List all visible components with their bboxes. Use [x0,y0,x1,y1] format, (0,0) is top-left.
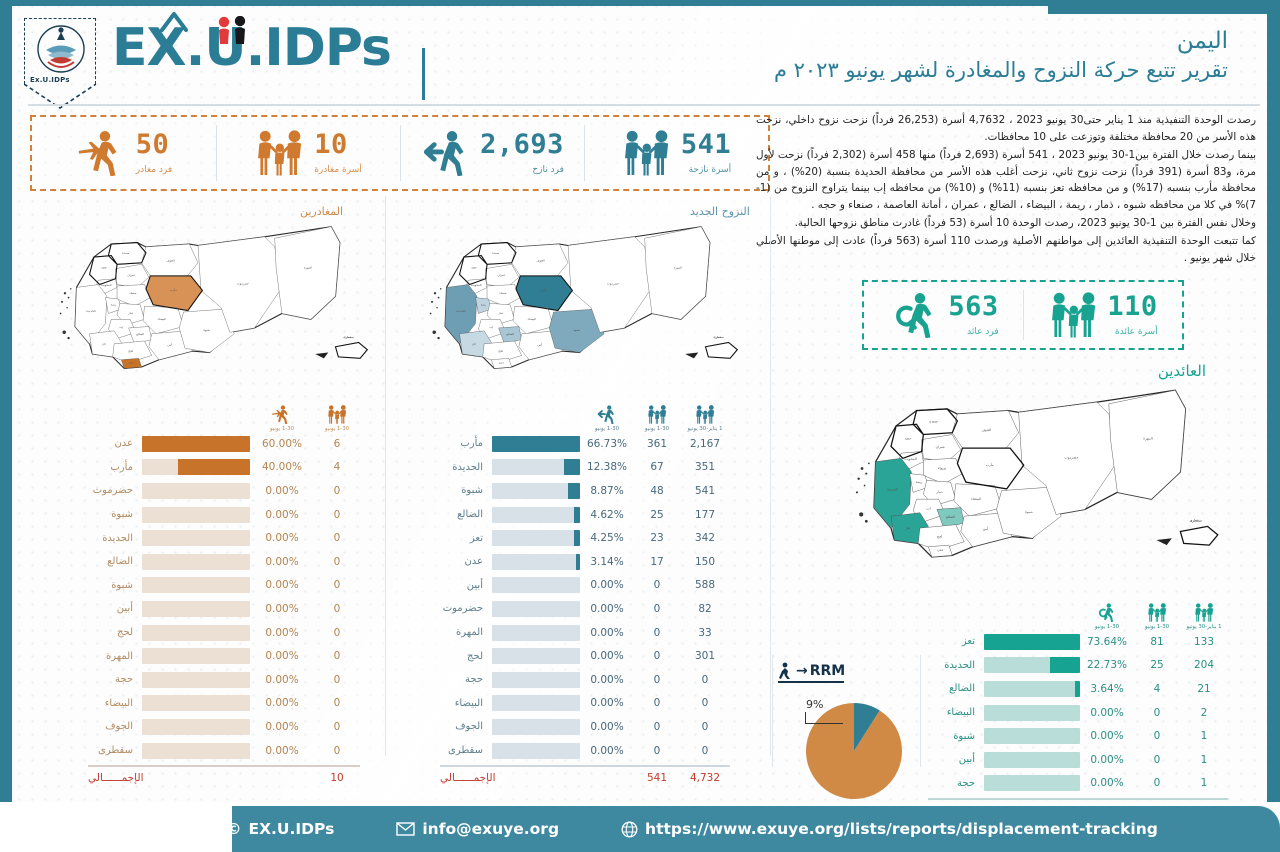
family-icon [622,130,672,176]
cell-governorate: الجوف [88,721,142,732]
yemen-map-svg: صعدةحجةالجوفعمرانالمحويتصنعاءمأربالحديدة… [828,380,1228,559]
logo-dashed-tail [24,84,96,110]
cell-bar [492,695,580,711]
cell-bar [984,657,1080,673]
cell-bar [142,719,250,735]
cell-bar [142,648,250,664]
header-icon-family-icon [695,405,716,424]
map-label-عمران: عمران [936,445,946,449]
family-icon [647,405,668,424]
cell-families: 0 [314,579,360,591]
narrative-text: رصدت الوحدة التنفيذية منذ 1 يناير حتى30 … [756,112,1256,268]
cell-jan-jun: 1 [1180,754,1228,766]
rrm-leader-line [805,712,843,724]
home-caret-icon [160,8,188,36]
rrm-annotation: 9% [806,698,823,711]
cell-families: 0 [314,721,360,733]
family-icon [695,405,716,424]
kpi-label: فرد مغادر [136,165,172,175]
map-label-شبوة: شبوة [573,328,580,332]
person-walking-arrow-icon [420,130,472,176]
cell-governorate: حجة [928,778,984,789]
table-header-row: 1 يناير-30 يونيو 1-30 يونيو 1-30 يونيو [928,596,1228,630]
table-row: 440.00% مأرب [88,456,360,480]
cell-bar [492,507,580,523]
map-label-مأرب: مأرب [170,288,177,292]
cell-percent: 0.00% [580,650,634,662]
map-label-الضالع: الضالع [946,515,955,519]
family-icon [1194,603,1215,622]
table-row: 000.00% سقطرى [440,739,730,763]
map-returnees: صعدةحجةالجوفعمرانالمحويتصنعاءمأربالحديدة… [828,380,1228,559]
right-rail-upper [1267,14,1280,276]
cell-percent: 0.00% [250,674,314,686]
narrative-paragraph-3: كما تتبعت الوحدة التنفيذية العائدين إلى … [756,233,1256,267]
cell-percent: 0.00% [580,721,634,733]
left-rail [0,6,12,806]
map-label-شبوة: شبوة [203,328,210,332]
table-row: 00.00% الضالع [88,550,360,574]
kpi-value: 563 [948,293,998,320]
map-label-عمران: عمران [127,273,135,277]
map-label-صعدة: صعدة [122,251,130,255]
brand-divider [422,48,425,100]
cell-families: 4 [314,461,360,473]
cell-june: 0 [1134,730,1180,742]
cell-percent: 0.00% [250,556,314,568]
cell-governorate: البيضاء [88,698,142,709]
cell-governorate: حضرموت [440,603,492,614]
section-caption-returnees: العائدين [1158,362,1206,380]
kpi-label: أسرة نازحة [681,165,731,175]
map-label-الجوف: الجوف [536,258,544,262]
header-icon-person-walking-arrow-icon [596,405,617,424]
cell-governorate: عدن [88,438,142,449]
cell-governorate: مأرب [440,438,492,449]
brand-lockup: EX.U.IDPs [112,22,391,74]
map-label-الحديدة: الحديدة [456,309,465,313]
cell-governorate: الضالع [928,683,984,694]
map-label-صنعاء: صنعاء [499,291,507,295]
table-row: 1338173.64% تعز [928,630,1228,654]
kpi-icon-person-leaving-plane-icon [76,126,128,180]
map-label-صنعاء: صنعاء [938,466,946,470]
cell-bar [492,648,580,664]
cell-june: 81 [1134,636,1180,648]
cell-june: 48 [634,485,680,497]
logo-caption: Ex.U.IDPs [30,76,70,84]
cell-bar [142,672,250,688]
footer-website[interactable]: https://www.exuye.org/lists/reports/disp… [621,820,1158,838]
narrative-paragraph-0: رصدت الوحدة التنفيذية منذ 1 يناير حتى30 … [756,112,1256,146]
returnee-kpi-strip: 563 فرد عائد 110 أسرة عائدة [862,280,1184,350]
section-caption-departures: المغادرين [300,205,343,218]
cell-percent: 40.00% [250,461,314,473]
cell-governorate: البيضاء [440,698,492,709]
map-label-البيضاء: البيضاء [158,317,167,321]
cell-jan-jun: 0 [680,745,730,757]
cell-percent: 0.00% [250,579,314,591]
top-bar-right [1048,0,1280,14]
map-label-الضالع: الضالع [506,332,514,336]
cell-governorate: الضالع [88,556,142,567]
person-returning-icon [1096,603,1117,622]
map-label-حضرموت: حضرموت [1064,455,1078,459]
map-label-أبين: أبين [537,342,542,346]
map-label-عدن: عدن [937,548,943,552]
table-row: 00.00% لحج [88,621,360,645]
cell-percent: 0.00% [250,745,314,757]
header-label: 1-30 يونيو [325,426,349,432]
departures-table: 1-30 يونيو 1-30 يونيو 660.00% عدن440.00%… [88,398,360,789]
header-label: 1-30 يونيو [595,426,619,432]
kpi-label: فرد عائد [948,327,998,337]
table-row: 2143.64% الضالع [928,677,1228,701]
table-row: 100.00% حجة [928,772,1228,796]
cell-jan-jun: 177 [680,509,730,521]
header-icon-family-icon [647,405,668,424]
cell-governorate: عدن [440,556,492,567]
cell-percent: 4.25% [580,532,634,544]
kpi-card-3: 541 أسرة نازحة [584,117,768,189]
cell-bar [142,459,250,475]
cell-percent: 0.00% [580,627,634,639]
cell-bar [492,554,580,570]
cell-june: 25 [1134,659,1180,671]
logo: Ex.U.IDPs [18,14,110,100]
map-label-أبين: أبين [983,526,989,531]
cell-bar [492,672,580,688]
map-region-المهرة [275,227,340,320]
cell-bar [142,530,250,546]
table-row: 00.00% شبوة [88,503,360,527]
kpi-icon-family-icon [254,126,306,180]
table-row: 00.00% المهرة [88,644,360,668]
kpi-card-0: 50 فرد مغادر [32,117,216,189]
cell-governorate: الضالع [440,509,492,520]
header-label: 1-30 يونيو [270,426,294,432]
cell-percent: 8.87% [580,485,634,497]
cell-june: 0 [634,603,680,615]
cell-percent: 0.00% [580,603,634,615]
map-label-لحج: لحج [498,349,503,353]
map-label-حجة: حجة [471,266,476,270]
rrm-label: RRM [810,663,846,679]
table-header-col-0: 1 يناير-30 يونيو [1180,603,1228,630]
cell-bar [142,743,250,759]
header-icon-family-icon [1147,603,1168,622]
kpi-label: فرد نازح [480,165,564,175]
table-row: 541488.87% شبوة [440,479,730,503]
table-row: 00.00% حجة [88,668,360,692]
cell-jan-jun: 541 [680,485,730,497]
table-row: 342234.25% تعز [440,526,730,550]
cell-governorate: المهرة [440,627,492,638]
yemen-map-svg: صعدةحجةالجوفعمرانالمحويتصنعاءمأربالحديدة… [406,218,746,370]
cell-june: 17 [634,556,680,568]
cell-families: 0 [314,603,360,615]
map-label-الجوف: الجوف [981,428,991,432]
map-label-ريمة: ريمة [481,303,487,307]
family-icon [1049,292,1099,338]
cell-jan-jun: 1 [1180,777,1228,789]
two-people-icon [216,16,250,46]
kpi-icon-family-icon [1047,288,1099,342]
total-value-1: 541 [634,772,680,784]
panel-divider-3 [920,655,921,767]
cell-governorate: حضرموت [88,485,142,496]
cell-june: 0 [1134,754,1180,766]
cell-june: 0 [634,579,680,591]
map-label-socotra: سقطرى [1190,518,1202,522]
cell-families: 0 [314,697,360,709]
map-label-ذمار: ذمار [497,311,504,315]
cell-governorate: حجة [440,674,492,685]
table-row: 660.00% عدن [88,432,360,456]
cell-jan-jun: 150 [680,556,730,568]
map-departures: صعدةحجةالجوفعمرانالمحويتصنعاءمأربالحديدة… [36,218,376,370]
table-header-col-0: 1 يناير-30 يونيو [680,405,730,432]
table-header-row: 1-30 يونيو 1-30 يونيو [88,398,360,432]
cell-governorate: حجة [88,674,142,685]
map-label-ريمة: ريمة [916,480,923,484]
map-new-displacement: صعدةحجةالجوفعمرانالمحويتصنعاءمأربالحديدة… [406,218,746,370]
cell-governorate: شبوة [88,580,142,591]
map-islands [60,288,72,339]
cell-jan-jun: 2,167 [680,438,730,450]
table-row: 00.00% شبوة [88,574,360,598]
table-row: 150173.14% عدن [440,550,730,574]
map-label-socotra: سقطرى [343,335,354,339]
person-walking-arrow-icon [596,405,617,424]
map-label-عدن: عدن [129,360,135,364]
header-label: 1-30 يونيو [1145,624,1169,630]
header-icon-family-icon [327,405,348,424]
cell-governorate: أبين [440,580,492,591]
cell-governorate: البيضاء [928,707,984,718]
family-icon [327,405,348,424]
kpi-label: أسرة مغادرة [314,165,362,175]
map-label-المحويت: المحويت [101,283,112,287]
footer-copyright: © EX.U.IDPs [226,820,334,838]
cell-jan-jun: 1 [1180,730,1228,742]
cell-families: 0 [314,532,360,544]
cell-june: 0 [634,745,680,757]
panel-divider-4 [772,655,773,767]
footer-website-label: https://www.exuye.org/lists/reports/disp… [645,820,1158,838]
cell-governorate: شبوة [440,485,492,496]
table-row: 58800.00% أبين [440,574,730,598]
top-bar-left [0,0,1048,6]
footer-email-label: info@exuye.org [422,820,559,838]
header-label: 1-30 يونيو [1095,624,1119,630]
cell-governorate: الحديدة [928,660,984,671]
rrm-header: → RRM [778,662,908,679]
section-caption-new-displacement: النزوح الجديد [690,205,750,218]
map-region-socotra [1180,526,1217,545]
table-header-col-1: 1-30 يونيو [250,405,314,432]
table-header-col-2: 1-30 يونيو [580,405,634,432]
cell-bar [984,634,1080,650]
kpi-card-0: 563 فرد عائد [864,282,1023,348]
footer-left-notch [0,806,232,852]
footer-email[interactable]: info@exuye.org [396,820,559,838]
brand-name: EX.U.IDPs [112,22,391,74]
map-islands [856,463,870,523]
cell-governorate: مأرب [88,462,142,473]
cell-jan-jun: 301 [680,650,730,662]
cell-governorate: تعز [928,636,984,647]
table-row: 8200.00% حضرموت [440,597,730,621]
cell-june: 0 [1134,777,1180,789]
cell-percent: 0.00% [580,697,634,709]
map-label-أبين: أبين [167,342,172,346]
map-region-المهرة [645,227,710,320]
cell-percent: 0.00% [1080,730,1134,742]
cell-june: 0 [634,627,680,639]
map-label-صعدة: صعدة [929,420,937,424]
table-row: 000.00% الجوف [440,715,730,739]
table-row: 00.00% سقطرى [88,739,360,763]
rrm-rule [778,681,844,683]
kpi-card-2: 2,693 فرد نازح [400,117,584,189]
table-row: 100.00% أبين [928,748,1228,772]
table-row: 177254.62% الضالع [440,503,730,527]
kpi-icon-person-returning-icon [888,288,940,342]
cell-bar [142,436,250,452]
cell-families: 0 [314,485,360,497]
cell-bar [142,625,250,641]
returnees-table: 1 يناير-30 يونيو 1-30 يونيو 1-30 يونيو 1… [928,596,1228,822]
cell-june: 0 [634,697,680,709]
kpi-value: 110 [1107,293,1157,320]
map-label-صنعاء: صنعاء [129,291,137,295]
cell-jan-jun: 342 [680,532,730,544]
cell-bar [492,577,580,593]
cell-governorate: شبوة [928,731,984,742]
cell-bar [142,554,250,570]
total-value-0: 10 [314,772,360,784]
cell-percent: 3.14% [580,556,634,568]
cell-percent: 0.00% [580,579,634,591]
kpi-value: 541 [681,131,731,158]
map-label-شبوة: شبوة [1025,510,1033,514]
cell-bar [492,601,580,617]
cell-families: 0 [314,674,360,686]
panel-divider-2 [770,196,771,756]
map-region-socotra [335,342,367,358]
table-row: 3516712.38% الحديدة [440,456,730,480]
table-header-col-1: 1-30 يونيو [634,405,680,432]
cell-families: 0 [314,627,360,639]
cell-percent: 4.62% [580,509,634,521]
cell-percent: 0.00% [250,509,314,521]
cell-bar [984,752,1080,768]
map-label-حجة: حجة [905,437,911,441]
map-label-الجوف: الجوف [166,258,174,262]
table-header-col-0: 1-30 يونيو [314,405,360,432]
cell-percent: 0.00% [250,485,314,497]
cell-percent: 22.73% [1080,659,1134,671]
cell-bar [142,601,250,617]
cell-jan-jun: 351 [680,461,730,473]
table-header-col-1: 1-30 يونيو [1134,603,1180,630]
map-label-مأرب: مأرب [986,462,994,467]
cell-percent: 0.00% [250,650,314,662]
map-label-حضرموت: حضرموت [237,282,249,286]
cell-june: 0 [634,650,680,662]
cell-june: 25 [634,509,680,521]
map-label-حجة: حجة [101,266,106,270]
narrative-paragraph-2: وخلال نفس الفترة بين 1-30 يونيو 2023، رص… [756,215,1256,232]
cell-bar [492,459,580,475]
table-row: 00.00% الجوف [88,715,360,739]
person-leaving-plane-icon [271,405,292,424]
cell-families: 0 [314,650,360,662]
map-label-ذمار: ذمار [935,490,943,494]
cell-percent: 60.00% [250,438,314,450]
table-row: 00.00% الحديدة [88,526,360,550]
header-label: 1 يناير-30 يونيو [687,426,722,432]
cell-jan-jun: 133 [1180,636,1228,648]
rrm-block: → RRM 9% [778,662,908,809]
map-label-المهرة: المهرة [304,266,312,270]
cell-june: 67 [634,461,680,473]
cell-percent: 0.00% [250,627,314,639]
header-icon-person-leaving-plane-icon [271,405,292,424]
cell-jan-jun: 0 [680,721,730,733]
cell-bar [984,705,1080,721]
cell-percent: 0.00% [1080,754,1134,766]
cell-bar [492,625,580,641]
cell-percent: 0.00% [1080,707,1134,719]
cell-governorate: أبين [88,603,142,614]
cell-percent: 0.00% [1080,777,1134,789]
cell-june: 0 [634,721,680,733]
table-row: 00.00% أبين [88,597,360,621]
table-row: 000.00% البيضاء [440,692,730,716]
map-region-المهرة [1109,390,1186,499]
kpi-icon-family-icon [621,126,673,180]
cell-bar [492,530,580,546]
table-row: 00.00% حضرموت [88,479,360,503]
right-rail-lower [1267,276,1280,806]
envelope-icon [396,822,415,836]
cell-percent: 66.73% [580,438,634,450]
cell-bar [492,483,580,499]
family-icon [255,130,305,176]
cell-june: 0 [634,674,680,686]
new-displacement-table: 1 يناير-30 يونيو 1-30 يونيو 1-30 يونيو 2… [440,398,730,789]
cell-bar [492,719,580,735]
cell-governorate: شبوة [88,509,142,520]
report-title: تقرير تتبع حركة النزوح والمغادرة لشهر يو… [774,58,1228,82]
cell-bar [984,728,1080,744]
table-header-col-2: 1-30 يونيو [1080,603,1134,630]
cell-bar [142,577,250,593]
kpi-strip: 50 فرد مغادر 10 أسرة مغادرة 2,693 فرد نا… [30,115,770,191]
header-icon-family-icon [1194,603,1215,622]
cell-jan-jun: 82 [680,603,730,615]
map-label-مأرب: مأرب [540,288,547,292]
family-icon [1147,603,1168,622]
cell-families: 0 [314,745,360,757]
table-row: 000.00% حجة [440,668,730,692]
cell-percent: 12.38% [580,461,634,473]
panel-divider-1 [385,196,386,756]
narrative-paragraph-1: بينما رصدت خلال الفترة بين1-30 يونيو 202… [756,147,1256,214]
table-row: 30100.00% لحج [440,644,730,668]
